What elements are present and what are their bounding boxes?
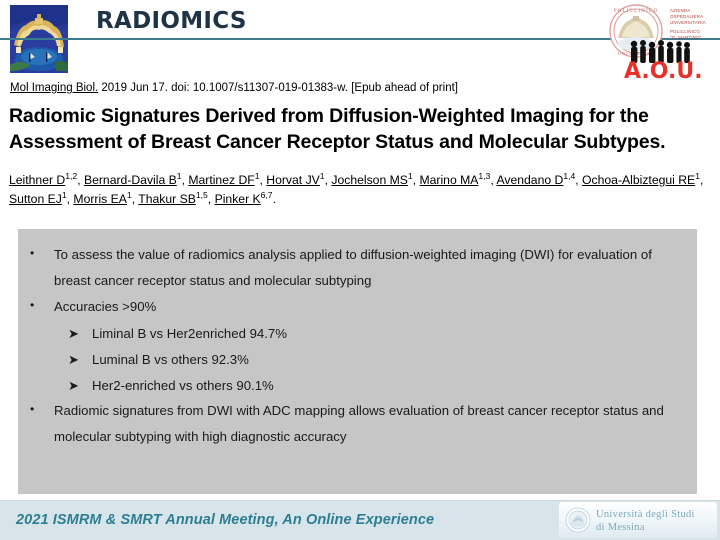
university-logo-line2: di Messina — [596, 522, 645, 533]
slide: RADIOMICS POLICLINICO UNIVERSITA — [0, 0, 720, 540]
author-name: Marino MA — [419, 173, 478, 187]
svg-text:POLICLINICO: POLICLINICO — [614, 9, 659, 14]
author-separator: , — [700, 173, 703, 187]
arrow-bullet-icon: ➤ — [68, 373, 92, 398]
svg-text:"G. MARTINO": "G. MARTINO" — [670, 35, 702, 40]
bullet-text: Accuracies >90% — [54, 294, 685, 320]
author-name: Ochoa-Albiztegui RE — [582, 173, 695, 187]
bullet-marker-icon: • — [30, 294, 54, 317]
university-seal-icon — [565, 507, 591, 533]
author-name: Leithner D — [9, 173, 65, 187]
journal-citation: Mol Imaging Biol. 2019 Jun 17. doi: 10.1… — [10, 82, 710, 94]
author-separator: , — [208, 192, 215, 206]
author-separator: . — [273, 192, 276, 206]
bullet-item: •To assess the value of radiomics analys… — [30, 242, 685, 293]
bullet-marker-icon: • — [30, 242, 54, 265]
author-separator: , — [77, 173, 84, 187]
universita-messina-logo: Università degli Studi di Messina — [559, 502, 717, 538]
author-name: Jochelson MS — [331, 173, 408, 187]
sub-bullet-item: ➤Her2-enriched vs others 90.1% — [68, 373, 685, 399]
bullet-text: Liminal B vs Her2enriched 94.7% — [92, 321, 685, 347]
author-name: Horvat JV — [266, 173, 320, 187]
university-logo-line1: Università degli Studi — [596, 509, 695, 520]
author-name: Morris EA — [73, 192, 127, 206]
slide-header: RADIOMICS POLICLINICO UNIVERSITA — [0, 0, 720, 82]
svg-text:AZIENDA: AZIENDA — [670, 8, 690, 13]
bullet-text: Her2-enriched vs others 90.1% — [92, 373, 685, 399]
svg-text:A.O.U.: A.O.U. — [624, 59, 703, 80]
summary-content-box: •To assess the value of radiomics analys… — [18, 229, 697, 494]
author-name: Sutton EJ — [9, 192, 62, 206]
bullet-text: Luminal B vs others 92.3% — [92, 347, 685, 373]
arrow-bullet-icon: ➤ — [68, 347, 92, 372]
svg-text:POLICLINICO: POLICLINICO — [670, 29, 700, 34]
aou-policlinico-logo: POLICLINICO UNIVERSITA A.O.U. AZIENDA — [600, 2, 712, 80]
author-name: Bernard-Davila B — [84, 173, 177, 187]
bullet-text: To assess the value of radiomics analysi… — [54, 242, 685, 293]
article-title: Radiomic Signatures Derived from Diffusi… — [9, 104, 715, 156]
author-name: Pinker K — [215, 192, 261, 206]
author-name: Avendano D — [496, 173, 563, 187]
svg-text:OSPEDALIERA: OSPEDALIERA — [670, 14, 703, 19]
bullet-text: Radiomic signatures from DWI with ADC ma… — [54, 398, 685, 449]
footer-conference-text: 2021 ISMRM & SMRT Annual Meeting, An Onl… — [16, 512, 434, 528]
citation-details: 2019 Jun 17. doi: 10.1007/s11307-019-013… — [98, 82, 458, 94]
page-title: RADIOMICS — [96, 8, 247, 34]
author-list: Leithner D1,2, Bernard-Davila B1, Martin… — [9, 171, 715, 209]
author-name: Martinez DF — [188, 173, 254, 187]
citation-journal-name: Mol Imaging Biol. — [10, 82, 98, 94]
sub-bullet-item: ➤Liminal B vs Her2enriched 94.7% — [68, 321, 685, 347]
bullet-marker-icon: • — [30, 398, 54, 421]
bullet-list: •To assess the value of radiomics analys… — [18, 229, 697, 451]
arrow-bullet-icon: ➤ — [68, 321, 92, 346]
bullet-item: •Accuracies >90% — [30, 294, 685, 320]
author-name: Thakur SB — [138, 192, 196, 206]
aou-logo-graphic: POLICLINICO UNIVERSITA A.O.U. AZIENDA — [600, 2, 712, 80]
svg-text:UNIVERSITARIA: UNIVERSITARIA — [670, 20, 706, 25]
sub-bullet-item: ➤Luminal B vs others 92.3% — [68, 347, 685, 373]
bullet-item: •Radiomic signatures from DWI with ADC m… — [30, 398, 685, 449]
